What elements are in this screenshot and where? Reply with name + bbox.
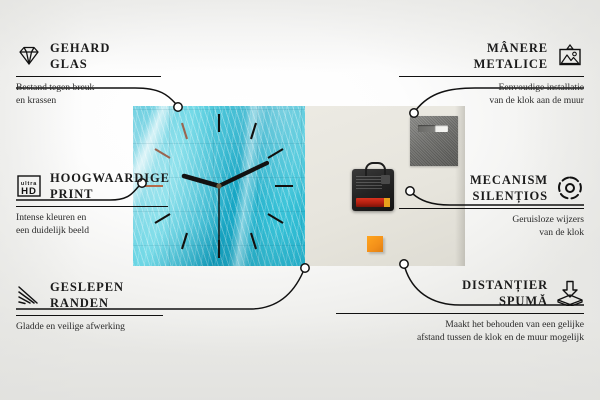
gear-icon — [556, 175, 584, 201]
battery — [356, 198, 390, 207]
mechanism-dial — [381, 175, 390, 184]
diagonal-lines-icon — [16, 284, 42, 306]
feature-gehard-glas-description: Bestand tegen breuk en krassen — [16, 81, 161, 107]
feature-mecanism-silentios-description: Geruisloze wijzers van de klok — [399, 213, 584, 239]
feature-hoogwaardige-print-description: Intense kleuren en een duidelijk beeld — [16, 211, 168, 237]
ultra-hd-icon: ultra HD — [16, 174, 42, 198]
feature-geslepen-randen-rule — [16, 315, 163, 316]
feature-mecanism-silentios-title: MECANISM SILENȚIOS — [470, 172, 548, 204]
metal-hanger-plate — [410, 116, 458, 166]
feature-mecanism-silentios-head: MECANISM SILENȚIOS — [399, 172, 584, 204]
feature-geslepen-randen-head: GESLEPEN RANDEN — [16, 279, 163, 311]
feature-manere-metalice[interactable]: MÂNERE METALICE Eenvoudige installatie v… — [399, 40, 584, 107]
feature-gehard-glas-rule — [16, 76, 161, 77]
hour-hand — [184, 176, 219, 186]
feature-gehard-glas-head: GEHARD GLAS — [16, 40, 161, 72]
feature-geslepen-randen-description: Gladde en veilige afwerking — [16, 320, 163, 333]
feature-geslepen-randen[interactable]: GESLEPEN RANDEN Gladde en veilige afwerk… — [16, 279, 163, 333]
feature-distantier-spuma-rule — [336, 313, 584, 314]
feature-distantier-spuma-description: Maakt het behouden van een gelijke afsta… — [336, 318, 584, 344]
feature-geslepen-randen-title: GESLEPEN RANDEN — [50, 279, 124, 311]
feature-hoogwaardige-print-rule — [16, 206, 168, 207]
hanger-slot — [418, 125, 448, 132]
picture-frame-icon — [556, 44, 584, 68]
feature-gehard-glas[interactable]: GEHARD GLAS Bestand tegen breuk en krass… — [16, 40, 161, 107]
feature-hoogwaardige-print[interactable]: ultra HD HOOGWAARDIGE PRINT Intense kleu… — [16, 170, 168, 237]
feature-distantier-spuma-title: DISTANȚIER SPUMĂ — [462, 277, 548, 309]
arrow-into-pad-icon — [556, 280, 584, 306]
feature-mecanism-silentios[interactable]: MECANISM SILENȚIOS Geruisloze wijzers va… — [399, 172, 584, 239]
diamond-icon — [16, 45, 42, 67]
feature-manere-metalice-description: Eenvoudige installatie van de klok aan d… — [399, 81, 584, 107]
mechanism-label — [356, 176, 382, 189]
clock-mechanism — [352, 169, 394, 211]
infographic-page: GEHARD GLAS Bestand tegen breuk en krass… — [0, 0, 600, 400]
feature-manere-metalice-title: MÂNERE METALICE — [474, 40, 548, 72]
feature-manere-metalice-head: MÂNERE METALICE — [399, 40, 584, 72]
feature-mecanism-silentios-rule — [399, 208, 584, 209]
feature-distantier-spuma[interactable]: DISTANȚIER SPUMĂ Maakt het behouden van … — [336, 277, 584, 344]
ultra-hd-icon-large-text: HD — [21, 186, 37, 197]
foam-spacer — [367, 236, 383, 252]
mechanism-hook — [365, 162, 386, 176]
hands-center-cap — [216, 183, 221, 188]
minute-hand — [219, 163, 267, 186]
feature-gehard-glas-title: GEHARD GLAS — [50, 40, 110, 72]
feature-manere-metalice-rule — [399, 76, 584, 77]
feature-hoogwaardige-print-head: ultra HD HOOGWAARDIGE PRINT — [16, 170, 168, 202]
feature-distantier-spuma-head: DISTANȚIER SPUMĂ — [336, 277, 584, 309]
feature-hoogwaardige-print-title: HOOGWAARDIGE PRINT — [50, 170, 170, 202]
